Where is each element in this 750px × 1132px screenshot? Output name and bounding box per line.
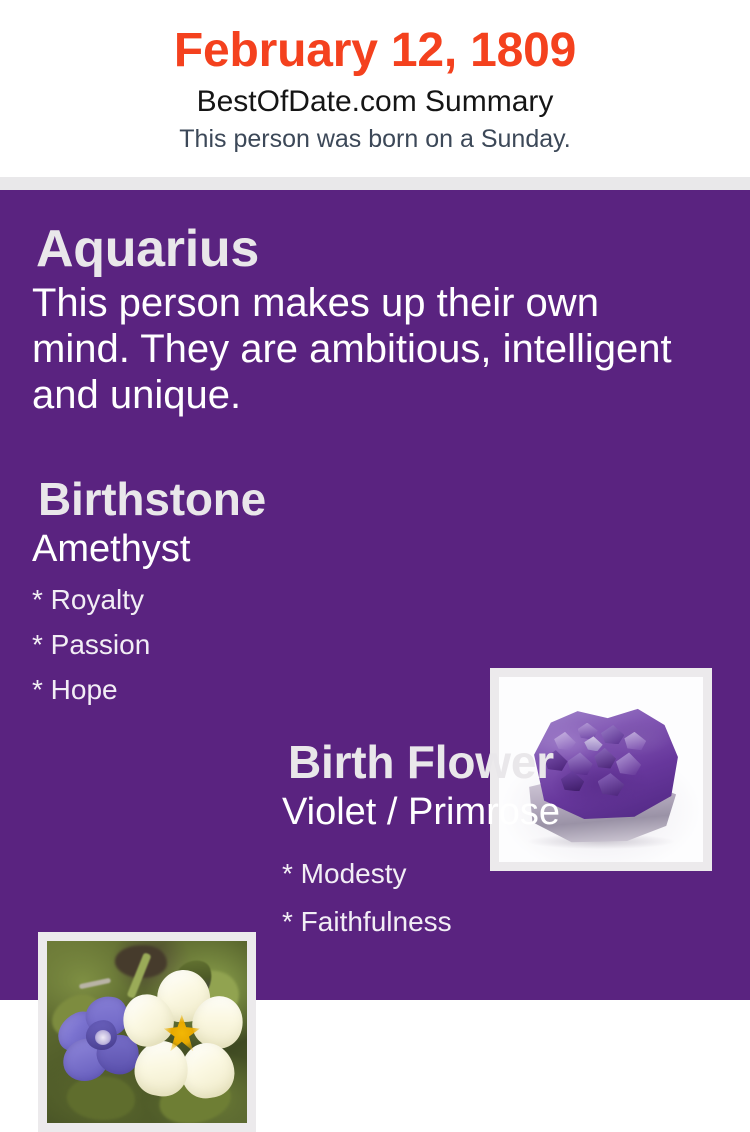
infographic-page: February 12, 1809 BestOfDate.com Summary… [0, 0, 750, 1000]
birthflower-heading: Birth Flower [288, 735, 722, 789]
page-header: February 12, 1809 BestOfDate.com Summary… [0, 0, 750, 177]
page-title: February 12, 1809 [0, 22, 750, 80]
primrose-flower [123, 970, 243, 1101]
zodiac-sign-name: Aquarius [36, 220, 704, 278]
zodiac-description: This person makes up their own mind. The… [32, 280, 687, 418]
born-day-text: This person was born on a Sunday. [0, 122, 750, 156]
birthstone-trait-list: * Royalty * Passion * Hope [32, 577, 472, 712]
list-item: * Royalty [32, 577, 472, 622]
spacer [282, 840, 722, 850]
list-item: * Modesty [282, 850, 722, 898]
birthflower-name: Violet / Primrose [282, 790, 722, 834]
birthstone-section: Birthstone Amethyst * Royalty * Passion … [32, 472, 472, 712]
birthflower-image [47, 941, 247, 1123]
list-item: * Hope [32, 667, 472, 712]
birthstone-heading: Birthstone [38, 472, 472, 526]
primrose-petal [131, 1037, 193, 1100]
site-summary-label: BestOfDate.com Summary [0, 82, 750, 122]
list-item: * Passion [32, 622, 472, 667]
birthflower-trait-list: * Modesty * Faithfulness [282, 850, 722, 946]
birthflower-section: Birth Flower Violet / Primrose * Modesty… [282, 735, 722, 946]
stem-shape [79, 978, 111, 990]
content-panel: Aquarius This person makes up their own … [0, 190, 750, 1000]
violet-center [95, 1030, 112, 1045]
header-divider [0, 177, 750, 190]
birthstone-name: Amethyst [32, 527, 472, 571]
zodiac-section: Aquarius This person makes up their own … [32, 220, 704, 418]
flower-photo-art [47, 941, 247, 1123]
birthflower-image-frame [38, 932, 256, 1132]
list-item: * Faithfulness [282, 898, 722, 946]
